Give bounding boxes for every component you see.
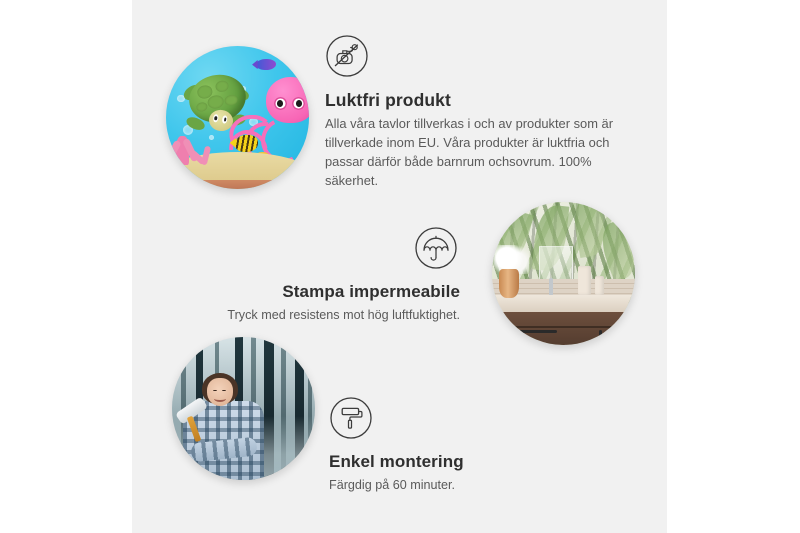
yellow-fish [235, 135, 258, 152]
feature-waterproof-print: Stampa impermeabile Tryck med resistens … [195, 226, 460, 325]
feature-description: Tryck med resistens mot hög luftfuktighe… [195, 306, 460, 325]
no-fragrance-icon [325, 34, 369, 78]
feature-easy-assembly: Enkel montering Färgdig på 60 minuter. [329, 396, 589, 495]
vanity-cabinet [492, 312, 635, 345]
umbrella-icon [414, 226, 458, 270]
product-feature-infographic: Luktfri produkt Alla våra tavlor tillver… [0, 0, 800, 533]
vase [499, 269, 519, 298]
feature-description: Alla våra tavlor tillverkas i och av pro… [325, 115, 625, 191]
countertop [492, 295, 635, 314]
feature-title: Luktfri produkt [325, 90, 625, 111]
person-face [207, 378, 233, 405]
bathroom-vanity-photo [492, 202, 635, 345]
octopus [266, 77, 309, 123]
feature-title: Stampa impermeabile [195, 282, 460, 302]
sea-floor [166, 180, 309, 189]
underwater-cartoon-photo [166, 46, 309, 189]
feature-description: Färgdig på 60 minuter. [329, 476, 589, 495]
woman-paint-roller-forest-photo [172, 337, 315, 480]
paint-roller-icon [329, 396, 373, 440]
feature-odour-free: Luktfri produkt Alla våra tavlor tillver… [325, 34, 625, 191]
feature-title: Enkel montering [329, 452, 589, 472]
faucet [549, 278, 553, 297]
